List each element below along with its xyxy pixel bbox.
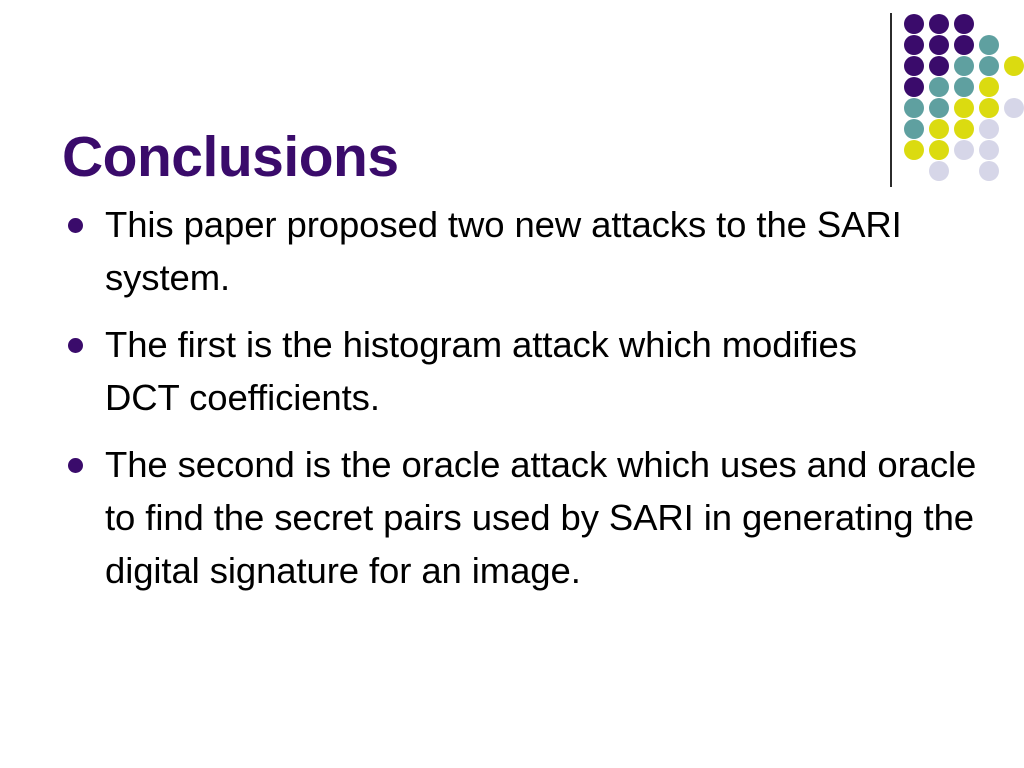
dot-lavender xyxy=(929,161,949,181)
bullet-point-icon xyxy=(68,218,83,233)
dot-lavender xyxy=(954,140,974,160)
dot-purple xyxy=(929,35,949,55)
dot-lavender xyxy=(979,140,999,160)
dot-teal xyxy=(929,98,949,118)
dot-teal xyxy=(979,56,999,76)
dot-purple xyxy=(904,35,924,55)
dot-lavender xyxy=(1004,98,1024,118)
dot-purple xyxy=(904,77,924,97)
dot-teal xyxy=(904,98,924,118)
dot-yellow xyxy=(929,140,949,160)
dot-lavender xyxy=(979,119,999,139)
list-item: This paper proposed two new attacks to t… xyxy=(60,198,990,304)
dot-grid xyxy=(904,14,1024,174)
bullet-point-icon xyxy=(68,338,83,353)
bullet-point-icon xyxy=(68,458,83,473)
dot-purple xyxy=(929,56,949,76)
dot-yellow xyxy=(904,140,924,160)
dot-grid-decoration xyxy=(888,0,1024,200)
slide-canvas: Conclusions This paper proposed two new … xyxy=(0,0,1024,768)
list-item-label: This paper proposed two new attacks to t… xyxy=(105,198,945,304)
list-item: The second is the oracle attack which us… xyxy=(60,438,990,597)
dot-lavender xyxy=(979,161,999,181)
dot-purple xyxy=(954,35,974,55)
dot-yellow xyxy=(979,98,999,118)
list-item: The first is the histogram attack which … xyxy=(60,318,990,424)
vertical-rule xyxy=(890,13,892,187)
dot-purple xyxy=(904,14,924,34)
dot-purple xyxy=(954,14,974,34)
dot-purple xyxy=(929,14,949,34)
dot-teal xyxy=(954,56,974,76)
page-title: Conclusions xyxy=(62,128,822,188)
dot-teal xyxy=(929,77,949,97)
dot-purple xyxy=(904,56,924,76)
dot-yellow xyxy=(929,119,949,139)
list-item-label: The second is the oracle attack which us… xyxy=(105,438,990,597)
dot-yellow xyxy=(954,98,974,118)
dot-teal xyxy=(979,35,999,55)
dot-teal xyxy=(904,119,924,139)
dot-yellow xyxy=(979,77,999,97)
bullet-list: This paper proposed two new attacks to t… xyxy=(60,198,990,611)
list-item-label: The first is the histogram attack which … xyxy=(105,318,865,424)
dot-teal xyxy=(954,77,974,97)
dot-yellow xyxy=(954,119,974,139)
dot-yellow xyxy=(1004,56,1024,76)
